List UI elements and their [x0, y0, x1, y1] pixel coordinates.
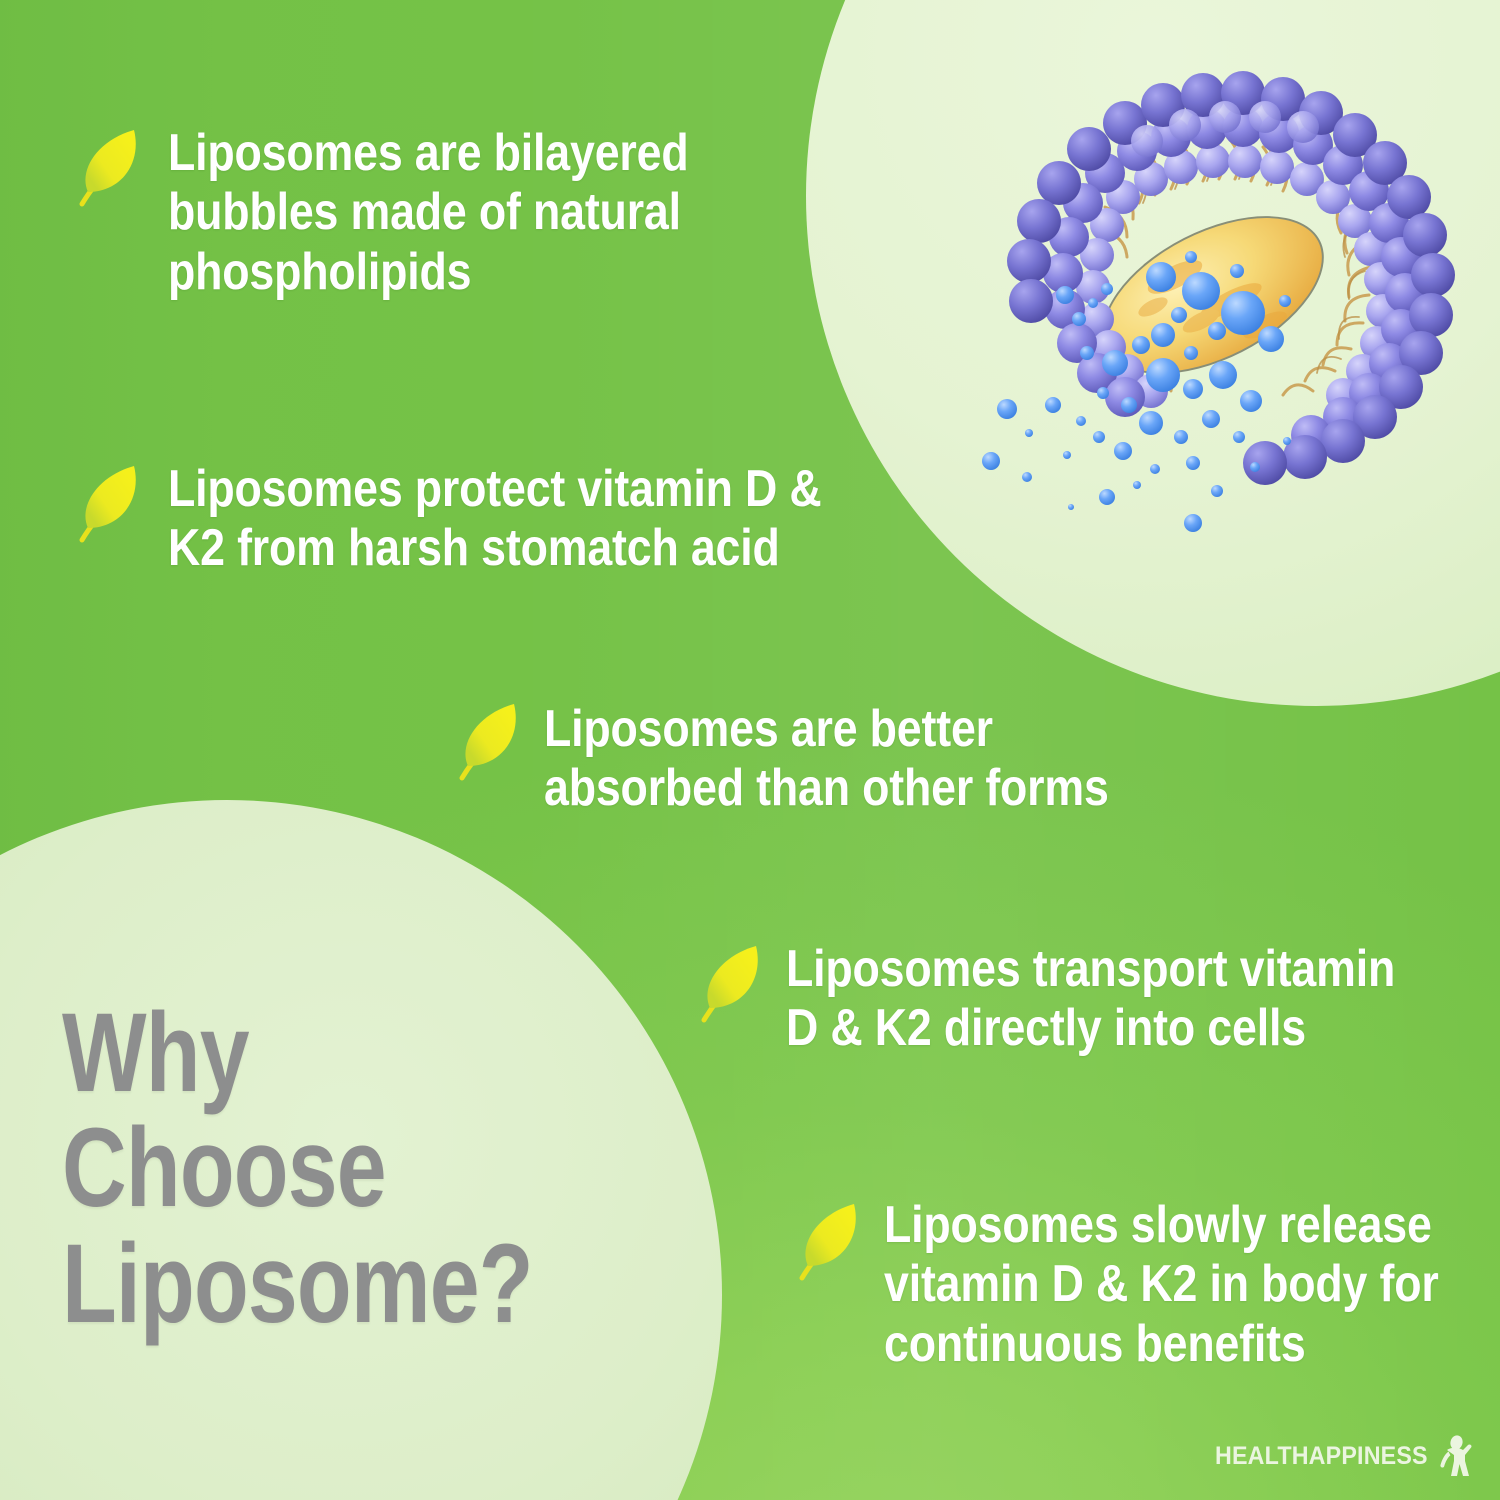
human-figure-icon — [1434, 1434, 1474, 1478]
bullet-text-2: Liposomes protect vitamin D & K2 from ha… — [168, 460, 1028, 579]
infographic-canvas: Liposomes are bilayered bubbles made of … — [0, 0, 1500, 1500]
brand-name: HEALTHAPPINESS — [1215, 1442, 1428, 1471]
bullet-text-4: Liposomes transport vitamin D & K2 direc… — [786, 940, 1500, 1059]
bullet-text-3: Liposomes are better absorbed than other… — [544, 700, 1318, 819]
brand-logo: HEALTHAPPINESS — [1199, 1434, 1474, 1478]
bullet-text-5: Liposomes slowly release vitamin D & K2 … — [884, 1196, 1500, 1374]
page-title: Why Choose Liposome? — [62, 995, 533, 1341]
bullet-text-1: Liposomes are bilayered bubbles made of … — [168, 124, 869, 302]
liposome-illustration — [955, 45, 1475, 535]
